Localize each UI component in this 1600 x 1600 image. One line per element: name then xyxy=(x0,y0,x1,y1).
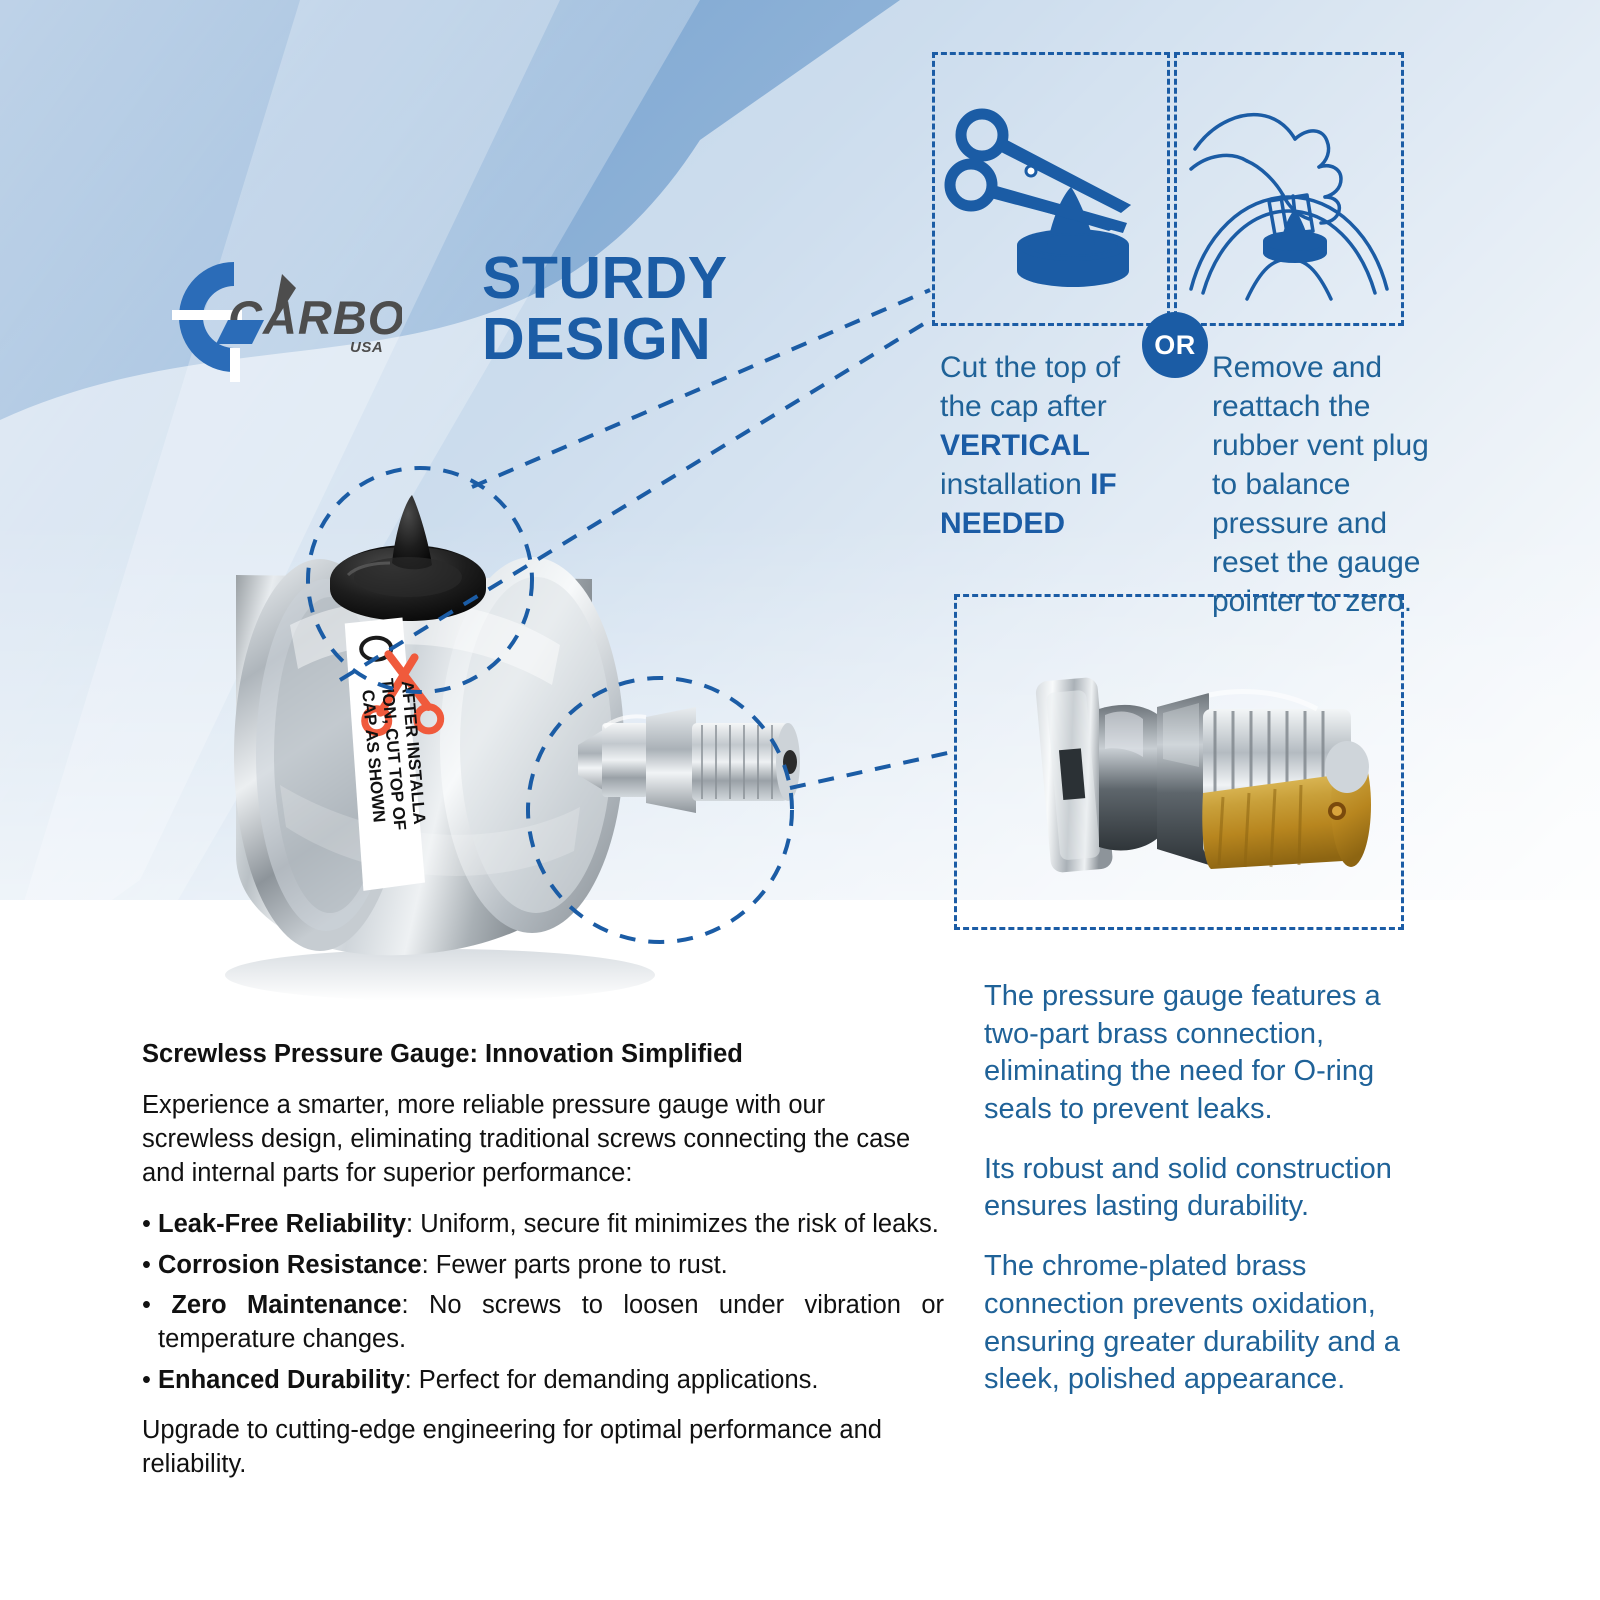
brass-chrome-connector-photo xyxy=(957,597,1401,927)
scissors-cutting-cap-icon xyxy=(935,55,1167,323)
or-badge: OR xyxy=(1142,312,1208,378)
svg-text:USA: USA xyxy=(350,339,383,356)
feature-term: Enhanced Durability xyxy=(158,1366,405,1394)
headline-line-1: STURDY xyxy=(482,248,728,309)
page-title: STURDY DESIGN xyxy=(482,248,728,370)
feature-sep: : xyxy=(422,1251,436,1279)
pressure-gauge-image: AFTER INSTALLA TION, CUT TOP OF CAP AS S… xyxy=(140,455,820,1015)
instr-cut-b1: VERTICAL xyxy=(940,429,1090,462)
feature-sep: : xyxy=(405,1366,419,1394)
instruction-cut-cap: Cut the top of the cap after VERTICAL in… xyxy=(940,348,1150,543)
right-body-copy: The pressure gauge features a two-part b… xyxy=(984,978,1436,1399)
right-body-p1: The pressure gauge features a two-part b… xyxy=(984,978,1436,1129)
instr-cut-t3: installation xyxy=(940,468,1090,501)
list-item: • Leak-Free Reliability: Uniform, secure… xyxy=(142,1208,944,1242)
feature-sep: : xyxy=(406,1210,420,1238)
feature-term: Corrosion Resistance xyxy=(158,1251,422,1279)
feature-list: • Leak-Free Reliability: Uniform, secure… xyxy=(142,1208,944,1399)
left-body-heading: Screwless Pressure Gauge: Innovation Sim… xyxy=(142,1038,944,1072)
instr-cut-t1: Cut the top of xyxy=(940,351,1120,384)
panel-vent-plug xyxy=(1174,52,1404,326)
feature-desc: Fewer parts prone to rust. xyxy=(436,1251,728,1279)
list-item: • Corrosion Resistance: Fewer parts pron… xyxy=(142,1249,944,1283)
hand-removing-vent-plug-icon xyxy=(1177,55,1401,323)
left-body-intro: Experience a smarter, more reliable pres… xyxy=(142,1089,944,1191)
feature-desc: Perfect for demanding applications. xyxy=(419,1366,819,1394)
left-body-copy: Screwless Pressure Gauge: Innovation Sim… xyxy=(142,1038,944,1499)
left-body-closing: Upgrade to cutting-edge engineering for … xyxy=(142,1414,944,1482)
brand-logo: CARBO USA xyxy=(172,252,402,382)
instruction-vent-plug: Remove and reattach the rubber vent plug… xyxy=(1212,348,1440,621)
right-body-p3: The chrome-plated brass connection preve… xyxy=(984,1248,1436,1399)
instr-cut-t2: the cap after xyxy=(940,390,1107,423)
headline-line-2: DESIGN xyxy=(482,309,728,370)
feature-term: Leak-Free Reliability xyxy=(158,1210,406,1238)
list-item: • Enhanced Durability: Perfect for deman… xyxy=(142,1364,944,1398)
panel-brass-connector xyxy=(954,594,1404,930)
list-item: • Zero Maintenance: No screws to loosen … xyxy=(142,1289,944,1357)
right-body-p2: Its robust and solid construction ensure… xyxy=(984,1151,1436,1226)
panel-cut-cap xyxy=(932,52,1170,326)
feature-desc: Uniform, secure fit minimizes the risk o… xyxy=(420,1210,939,1238)
feature-sep: : xyxy=(401,1291,429,1319)
feature-term: Zero Maintenance xyxy=(171,1291,401,1319)
